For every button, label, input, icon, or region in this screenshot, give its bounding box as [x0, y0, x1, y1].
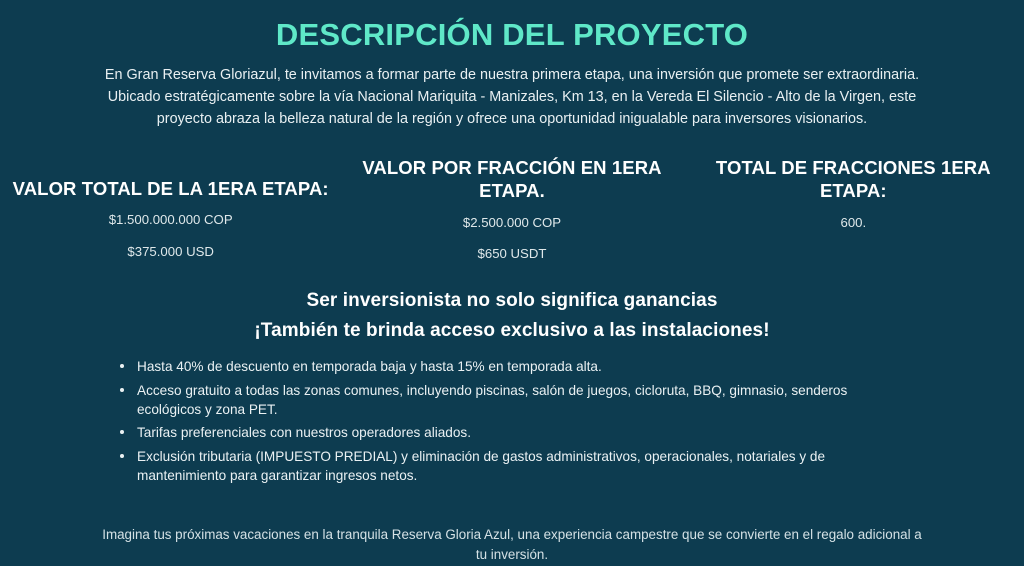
value-column-total-fractions: TOTAL DE FRACCIONES 1ERA ETAPA: 600.	[683, 157, 1024, 231]
value-line: $2.500.000 COP	[351, 215, 672, 231]
benefits-heading-line-2: ¡También te brinda acceso exclusivo a la…	[0, 316, 1024, 346]
benefits-heading-line-1: Ser inversionista no solo significa gana…	[0, 286, 1024, 316]
bullet-dot-icon	[120, 430, 124, 434]
list-item-label: Hasta 40% de descuento en temporada baja…	[137, 359, 602, 374]
value-line: $1.500.000.000 COP	[10, 212, 331, 228]
value-column-values: 600.	[693, 215, 1014, 231]
value-columns: VALOR TOTAL DE LA 1ERA ETAPA: $1.500.000…	[0, 157, 1024, 263]
value-column-total-stage: VALOR TOTAL DE LA 1ERA ETAPA: $1.500.000…	[0, 157, 341, 260]
bullet-dot-icon	[120, 364, 124, 368]
value-column-heading: VALOR POR FRACCIÓN EN 1ERA ETAPA.	[351, 157, 672, 203]
page-title: DESCRIPCIÓN DEL PROYECTO	[0, 0, 1024, 52]
value-line: $375.000 USD	[10, 244, 331, 260]
value-column-heading: VALOR TOTAL DE LA 1ERA ETAPA:	[10, 157, 331, 201]
value-column-heading: TOTAL DE FRACCIONES 1ERA ETAPA:	[693, 157, 1014, 203]
bullet-dot-icon	[120, 388, 124, 392]
list-item-label: Exclusión tributaria (IMPUESTO PREDIAL) …	[137, 449, 825, 483]
intro-paragraph: En Gran Reserva Gloriazul, te invitamos …	[81, 65, 943, 131]
closing-paragraph: Imagina tus próximas vacaciones en la tr…	[97, 525, 927, 565]
value-column-values: $2.500.000 COP $650 USDT	[351, 215, 672, 263]
value-line: $650 USDT	[351, 246, 672, 262]
list-item-label: Tarifas preferenciales con nuestros oper…	[137, 425, 471, 440]
project-description-page: DESCRIPCIÓN DEL PROYECTO En Gran Reserva…	[0, 0, 1024, 566]
bullet-dot-icon	[120, 454, 124, 458]
list-item: Hasta 40% de descuento en temporada baja…	[115, 357, 887, 376]
value-column-values: $1.500.000.000 COP $375.000 USD	[10, 212, 331, 260]
benefits-heading: Ser inversionista no solo significa gana…	[0, 286, 1024, 346]
benefits-list: Hasta 40% de descuento en temporada baja…	[115, 357, 887, 485]
list-item: Acceso gratuito a todas las zonas comune…	[115, 381, 887, 420]
list-item: Tarifas preferenciales con nuestros oper…	[115, 423, 887, 442]
list-item: Exclusión tributaria (IMPUESTO PREDIAL) …	[115, 447, 887, 486]
value-column-per-fraction: VALOR POR FRACCIÓN EN 1ERA ETAPA. $2.500…	[341, 157, 682, 263]
list-item-label: Acceso gratuito a todas las zonas comune…	[137, 383, 847, 417]
value-line: 600.	[693, 215, 1014, 231]
